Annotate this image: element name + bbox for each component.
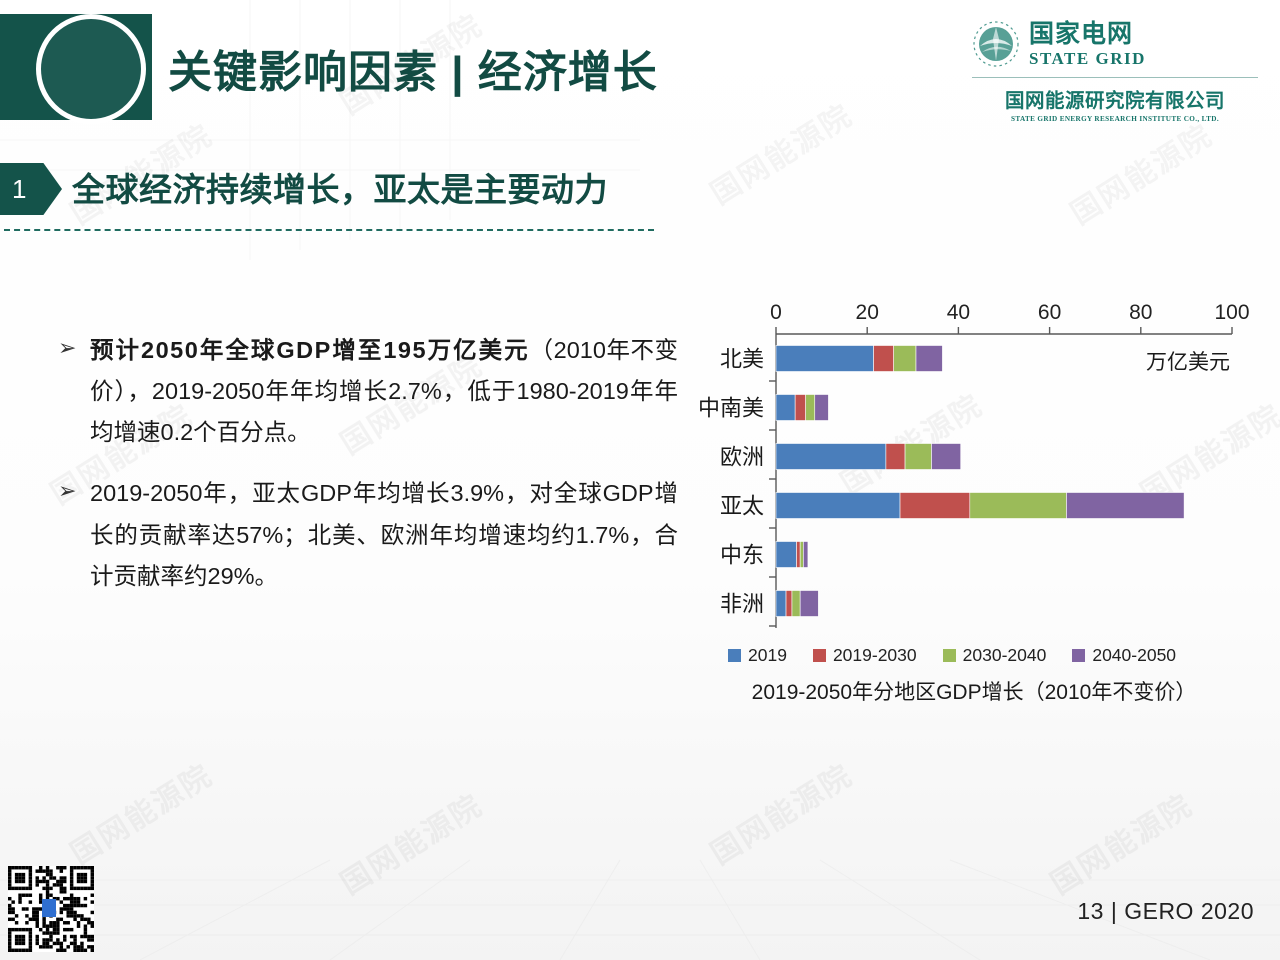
legend-swatch [1072, 649, 1085, 662]
logo-company-cn: 国家电网 [1029, 22, 1146, 47]
legend-item[interactable]: 2040-2050 [1072, 645, 1176, 666]
bullet-text: 2019-2050年，亚太GDP年均增长3.9%，对全球GDP增长的贡献率达57… [90, 473, 678, 596]
logo-company-en: STATE GRID [1029, 50, 1146, 67]
svg-text:0: 0 [770, 301, 782, 324]
watermark: 国网能源院 [330, 781, 489, 903]
chart-unit-label: 万亿美元 [1146, 346, 1230, 376]
bullet-arrow-icon: ➢ [58, 330, 90, 453]
list-item: ➢ 2019-2050年，亚太GDP年均增长3.9%，对全球GDP增长的贡献率达… [58, 473, 678, 596]
svg-text:北美: 北美 [720, 347, 764, 372]
svg-text:20: 20 [856, 301, 879, 324]
section-heading: 1 全球经济持续增长，亚太是主要动力 [0, 163, 700, 241]
legend-item[interactable]: 2030-2040 [943, 645, 1047, 666]
legend-item[interactable]: 2019 [728, 645, 787, 666]
legend-label: 2019-2030 [833, 645, 917, 666]
gdp-growth-chart: 020406080100北美中南美欧洲亚太中东非洲 万亿美元 20192019-… [694, 290, 1254, 710]
svg-text:中东: 中东 [720, 543, 764, 568]
svg-text:亚太: 亚太 [720, 494, 764, 519]
list-item: ➢ 预计2050年全球GDP增至195万亿美元（2010年不变价），2019-2… [58, 330, 678, 453]
bullet-lead: 预计2050年全球GDP增至195万亿美元 [90, 337, 530, 363]
legend-swatch [813, 649, 826, 662]
page-number: 13 | GERO 2020 [1077, 898, 1254, 925]
svg-text:60: 60 [1038, 301, 1061, 324]
legend-label: 2030-2040 [963, 645, 1047, 666]
qr-code-icon [8, 866, 94, 952]
legend-swatch [728, 649, 741, 662]
watermark: 国网能源院 [700, 751, 859, 873]
chart-caption: 2019-2050年分地区GDP增长（2010年不变价） [694, 676, 1254, 706]
svg-text:欧洲: 欧洲 [720, 445, 764, 470]
page-title: 关键影响因素 | 经济增长 [168, 36, 658, 100]
watermark: 国网能源院 [1040, 781, 1199, 903]
svg-text:中南美: 中南美 [698, 396, 764, 421]
section-divider [4, 229, 654, 231]
legend-label: 2019 [748, 645, 787, 666]
svg-text:100: 100 [1214, 301, 1249, 324]
chart-plot-area: 020406080100北美中南美欧洲亚太中东非洲 [694, 290, 1254, 642]
legend-swatch [943, 649, 956, 662]
state-grid-globe-icon [972, 20, 1020, 68]
section-number-badge: 1 [0, 163, 62, 215]
legend-item[interactable]: 2019-2030 [813, 645, 917, 666]
bullet-arrow-icon: ➢ [58, 473, 90, 596]
bullet-text: 预计2050年全球GDP增至195万亿美元（2010年不变价），2019-205… [90, 330, 678, 453]
svg-text:40: 40 [947, 301, 970, 324]
svg-text:非洲: 非洲 [720, 592, 764, 617]
chart-legend: 20192019-20302030-20402040-2050 [728, 642, 1248, 668]
watermark: 国网能源院 [60, 751, 219, 873]
state-grid-logo: 国家电网 STATE GRID 国网能源研究院有限公司 STATE GRID E… [972, 16, 1258, 120]
section-title: 全球经济持续增长，亚太是主要动力 [72, 163, 608, 211]
logo-institute-en: STATE GRID ENERGY RESEARCH INSTITUTE CO.… [972, 115, 1258, 123]
legend-label: 2040-2050 [1092, 645, 1176, 666]
logo-divider [972, 77, 1258, 78]
bullet-list: ➢ 预计2050年全球GDP增至195万亿美元（2010年不变价），2019-2… [58, 330, 678, 617]
svg-text:80: 80 [1129, 301, 1152, 324]
logo-institute-cn: 国网能源研究院有限公司 [972, 84, 1258, 113]
watermark: 国网能源院 [1060, 111, 1219, 233]
circle-decoration-icon [36, 14, 146, 124]
